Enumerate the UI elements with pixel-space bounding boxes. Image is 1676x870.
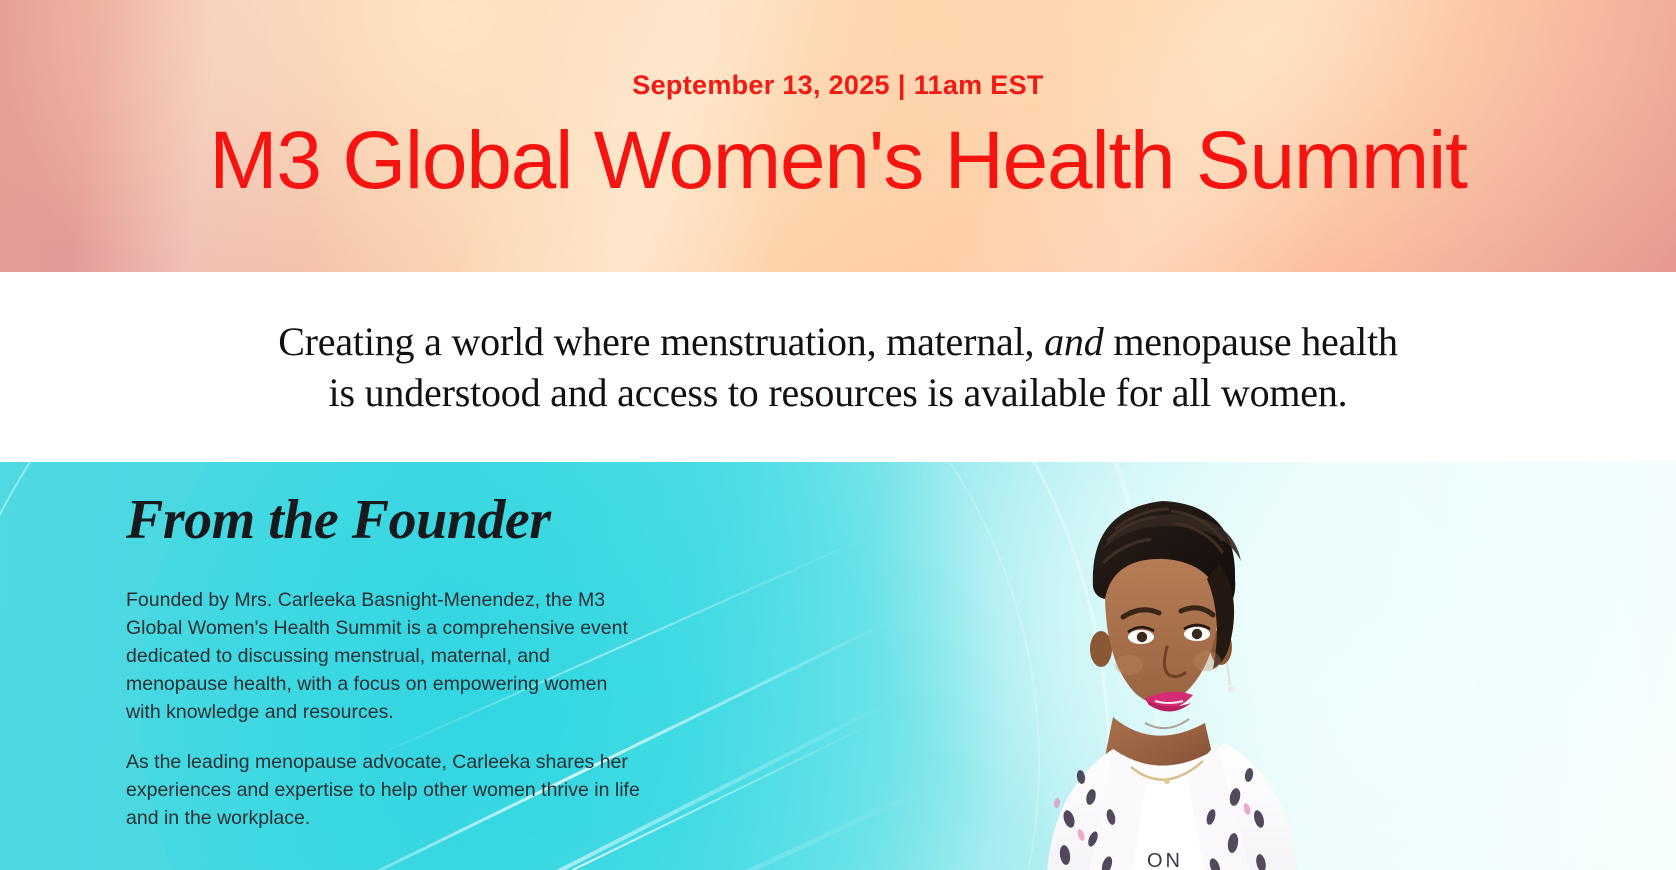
- tagline-line2: is understood and access to resources is…: [329, 370, 1348, 415]
- founder-portrait: ON: [995, 467, 1325, 870]
- tagline-line1-part1: Creating a world where menstruation, mat…: [278, 319, 1044, 364]
- founder-paragraph-2: As the leading menopause advocate, Carle…: [126, 748, 646, 832]
- founder-text-block: From the Founder Founded by Mrs. Carleek…: [126, 492, 666, 832]
- founder-section: From the Founder Founded by Mrs. Carleek…: [0, 462, 1676, 870]
- event-date: September 13, 2025: [632, 70, 890, 100]
- tagline-emphasis: and: [1044, 319, 1103, 364]
- founder-bio: Founded by Mrs. Carleeka Basnight-Menend…: [126, 586, 666, 832]
- mission-statement: Creating a world where menstruation, mat…: [278, 316, 1398, 418]
- founder-heading: From the Founder: [126, 492, 666, 548]
- hero-content: September 13, 2025|11am EST M3 Global Wo…: [0, 70, 1676, 203]
- founder-paragraph-1: Founded by Mrs. Carleeka Basnight-Menend…: [126, 586, 646, 726]
- event-datetime: September 13, 2025|11am EST: [0, 70, 1676, 101]
- hero-header: September 13, 2025|11am EST M3 Global Wo…: [0, 0, 1676, 272]
- event-time: 11am EST: [914, 70, 1044, 100]
- event-separator: |: [890, 70, 914, 100]
- page-title: M3 Global Women's Health Summit: [0, 119, 1676, 203]
- svg-text:ON: ON: [1147, 850, 1183, 870]
- summit-landing-page: September 13, 2025|11am EST M3 Global Wo…: [0, 0, 1676, 870]
- tagline-line1-part2: menopause health: [1104, 319, 1398, 364]
- tagline-section: Creating a world where menstruation, mat…: [0, 272, 1676, 462]
- founder-portrait-image: ON: [995, 467, 1325, 870]
